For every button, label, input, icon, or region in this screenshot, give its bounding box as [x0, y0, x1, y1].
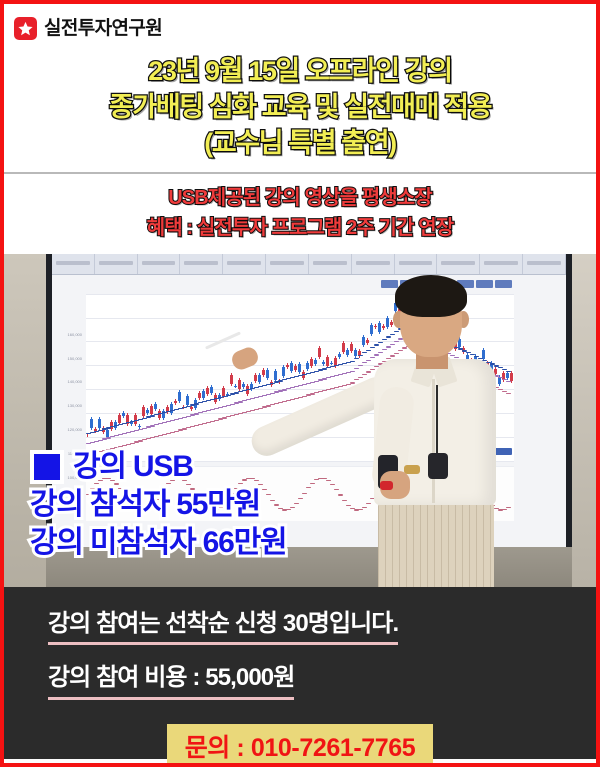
- overlay-line-1-wrap: 강의 USB: [30, 448, 286, 486]
- overlay-line-3: 강의 미참석자 66만원: [30, 524, 286, 562]
- headline-block: 23년 9월 15일 오프라인 강의 종가배팅 심화 교육 및 실전매매 적용 …: [4, 48, 596, 172]
- red-star-badge-icon: [14, 17, 37, 40]
- overlay-line-1: 강의 USB: [73, 448, 193, 486]
- overlay-line-2: 강의 참석자 55만원: [30, 486, 286, 524]
- presenter-hair: [395, 275, 467, 317]
- benefit-line-2: 혜택 : 실전투자 프로그램 2주 기간 연장: [4, 213, 596, 243]
- footer-block: 강의 참여는 선착순 신청 30명입니다. 강의 참여 비용 : 55,000원…: [4, 587, 596, 759]
- promo-poster: 실전투자연구원 23년 9월 15일 오프라인 강의 종가배팅 심화 교육 및 …: [0, 0, 600, 767]
- brand-header: 실전투자연구원: [4, 4, 596, 48]
- price-overlay: 강의 USB 강의 참석자 55만원 강의 미참석자 66만원: [30, 448, 286, 563]
- shirt-placket: [432, 379, 435, 503]
- presenter-figure: [340, 275, 536, 587]
- benefit-line-1: USB제공된 강의 영상을 평생소장: [4, 183, 596, 213]
- mic-transmitter: [428, 453, 448, 479]
- presenter-trousers: [378, 501, 494, 587]
- mic-cable: [436, 385, 438, 457]
- filled-square-bullet-icon: [30, 450, 64, 484]
- headline-line-3: (교수님 특별 출연): [4, 126, 596, 162]
- brand-name: 실전투자연구원: [44, 19, 162, 38]
- remote-button-icon: [380, 481, 393, 490]
- benefits-block: USB제공된 강의 영상을 평생소장 혜택 : 실전투자 프로그램 2주 기간 …: [4, 174, 596, 254]
- wristwatch-icon: [404, 465, 420, 474]
- footer-line-2: 강의 참여 비용 : 55,000원: [48, 665, 294, 699]
- photo-wall-right: [572, 254, 596, 587]
- contact-row: 문의 : 010-7261-7765: [48, 724, 596, 767]
- chart-y-axis: 160,000150,000140,000130,000120,000110,0…: [54, 294, 84, 461]
- headline-line-2: 종가배팅 심화 교육 및 실전매매 적용: [4, 90, 596, 126]
- headline-line-1: 23년 9월 15일 오프라인 강의: [4, 54, 596, 90]
- chart-quote-bar: [52, 254, 566, 275]
- footer-line-1: 강의 참여는 선착순 신청 30명입니다.: [48, 611, 398, 645]
- lecture-photo: 160,000150,000140,000130,000120,000110,0…: [4, 254, 596, 587]
- contact-phone-badge[interactable]: 문의 : 010-7261-7765: [167, 724, 434, 767]
